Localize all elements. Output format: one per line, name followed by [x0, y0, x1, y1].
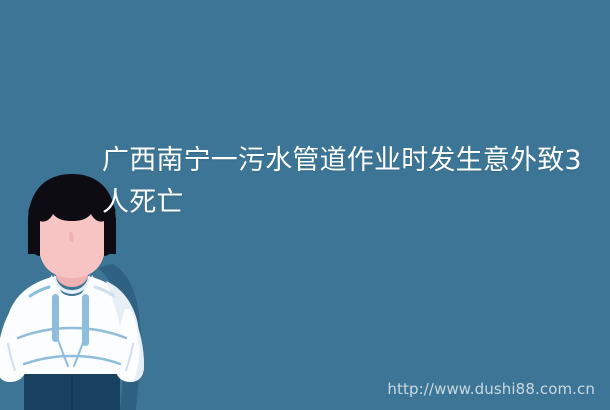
headline-text: 广西南宁一污水管道作业时发生意外致3人死亡 [102, 140, 582, 224]
watermark-url: http://www.dushi88.com.cn [387, 380, 595, 398]
news-thumbnail-card: 广西南宁一污水管道作业时发生意外致3人死亡 http://www.dushi88… [0, 0, 610, 410]
